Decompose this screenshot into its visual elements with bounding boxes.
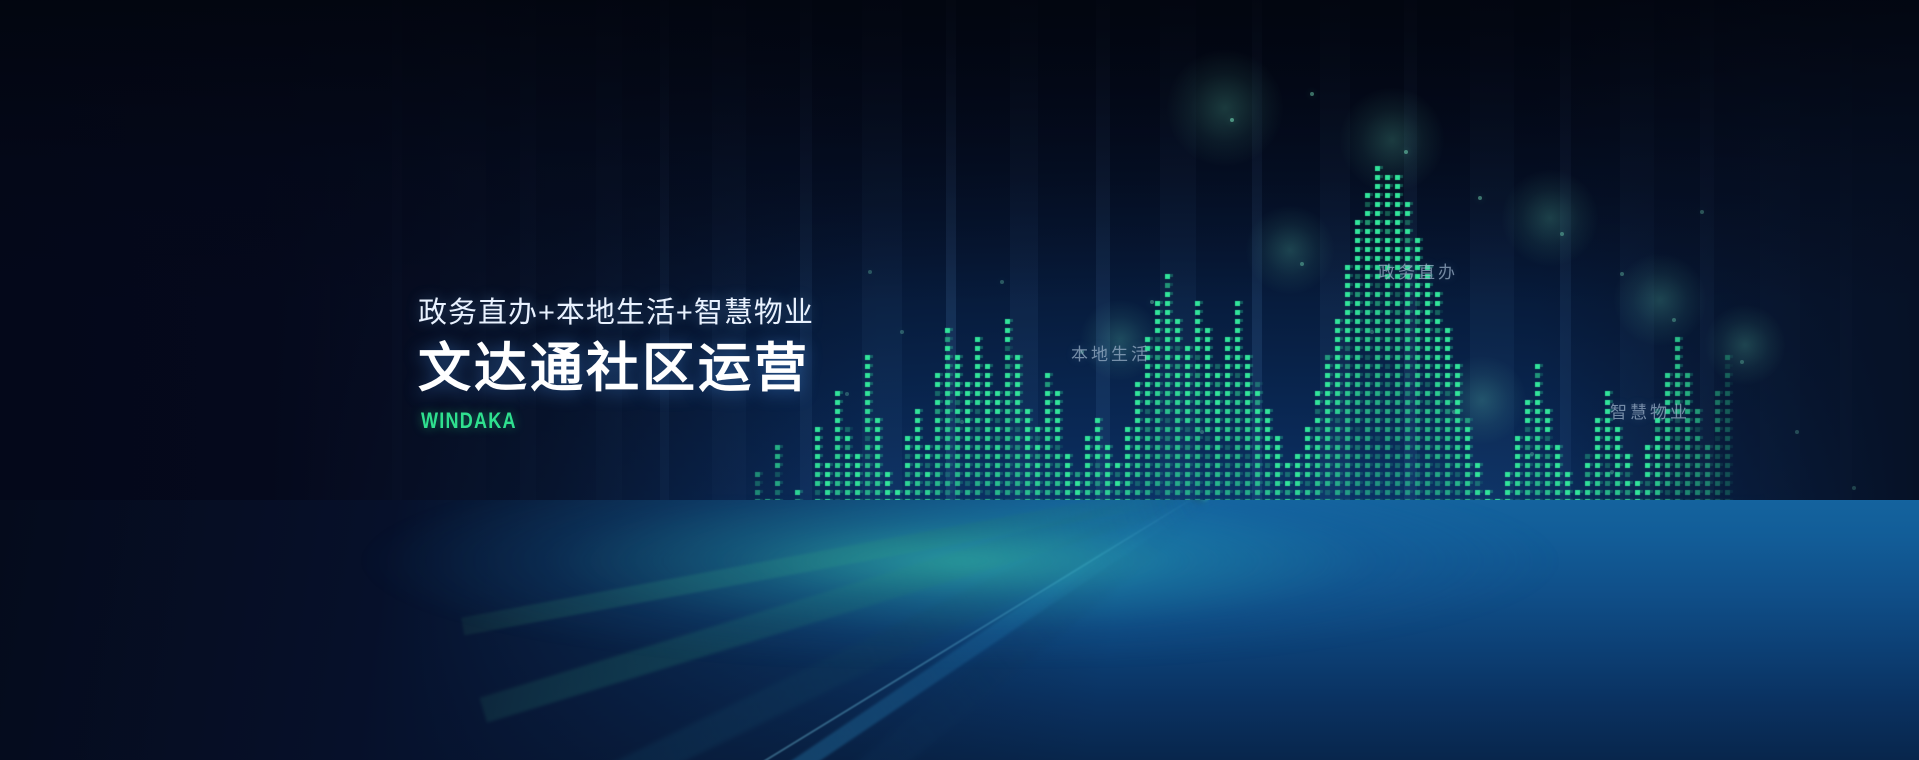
promo-banner: 政务直办本地生活智慧物业 政务直办+本地生活+智慧物业 文达通社区运营 WIND… <box>0 0 1919 760</box>
city-label-2: 本地生活 <box>1071 340 1151 365</box>
brand-wordmark: WINDAKA <box>421 408 743 434</box>
banner-main-title: 文达通社区运营 <box>418 340 814 397</box>
city-label-1: 政务直办 <box>1378 258 1458 283</box>
city-label-3: 智慧物业 <box>1610 398 1690 423</box>
horizon-glow <box>210 500 1710 660</box>
perspective-ground <box>0 500 1919 760</box>
headline-block: 政务直办+本地生活+智慧物业 文达通社区运营 WINDAKA <box>418 296 814 434</box>
banner-subtitle: 政务直办+本地生活+智慧物业 <box>418 296 814 331</box>
